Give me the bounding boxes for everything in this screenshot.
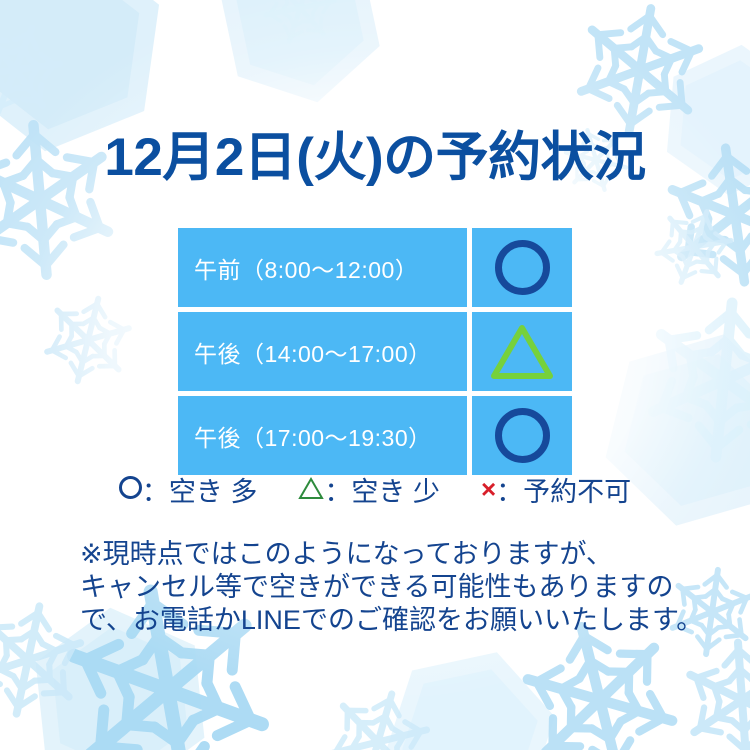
legend: ：空き 多 ：空き 少 ×：予約不可: [0, 470, 750, 509]
legend-item-unavailable: ×：予約不可: [481, 470, 631, 509]
legend-label: 予約不可: [523, 477, 631, 507]
note-line: キャンセル等で空きができる可能性もありますの: [80, 571, 720, 604]
note-line: ※現時点ではこのようになっておりますが、: [80, 538, 720, 571]
legend-label: 空き 少: [351, 477, 440, 507]
availability-table: 午前（8:00〜12:00） 午後（14:00〜17:00） 午後（17:00〜…: [178, 228, 572, 475]
circle-icon: [495, 408, 550, 463]
time-slot-label: 午後（17:00〜19:30）: [178, 396, 467, 475]
availability-poster: 12月2日(火)の予約状況 午前（8:00〜12:00） 午後（14:00〜17…: [0, 0, 750, 750]
triangle-icon: [298, 477, 324, 500]
table-row: 午後（14:00〜17:00）: [178, 312, 572, 391]
time-slot-label: 午後（14:00〜17:00）: [178, 312, 467, 391]
triangle-icon: [490, 323, 554, 381]
legend-separator: ：: [142, 477, 169, 507]
availability-mark-cell: [472, 396, 572, 475]
legend-item-few: ：空き 少: [298, 470, 440, 509]
page-title: 12月2日(火)の予約状況: [0, 115, 750, 191]
availability-mark-cell: [472, 228, 572, 307]
footer-note: ※現時点ではこのようになっておりますが、 キャンセル等で空きができる可能性もあり…: [80, 538, 720, 637]
table-row: 午後（17:00〜19:30）: [178, 396, 572, 475]
availability-mark-cell: [472, 312, 572, 391]
legend-separator: ：: [324, 477, 351, 507]
time-slot-label: 午前（8:00〜12:00）: [178, 228, 467, 307]
legend-label: 空き 多: [169, 477, 258, 507]
table-row: 午前（8:00〜12:00）: [178, 228, 572, 307]
circle-icon: [119, 476, 142, 499]
note-line: で、お電話かLINEでのご確認をお願いいたします。: [80, 604, 720, 637]
legend-item-many: ：空き 多: [119, 470, 258, 509]
cross-icon: ×: [481, 474, 496, 505]
legend-separator: ：: [496, 477, 523, 507]
circle-icon: [495, 240, 550, 295]
